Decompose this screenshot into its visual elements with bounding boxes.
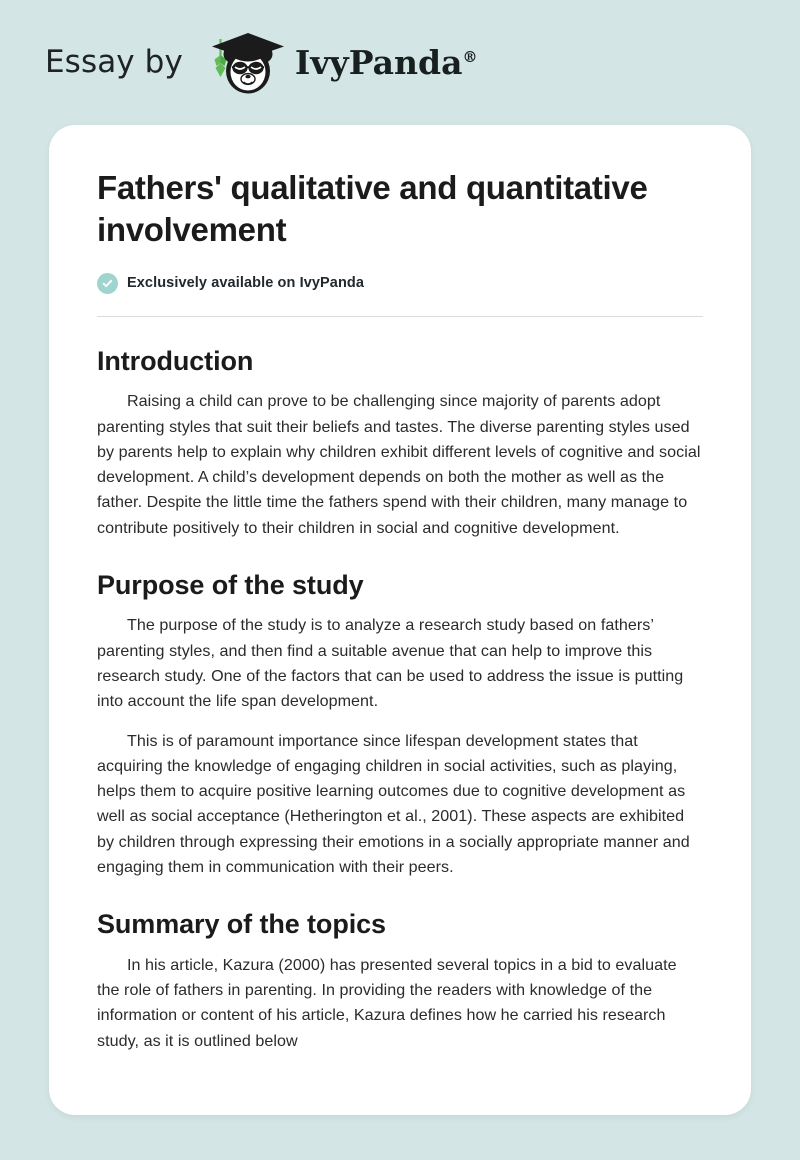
essay-document-card: Fathers' qualitative and quantitative in…	[49, 125, 751, 1115]
brand-wordmark: IvyPanda®	[295, 46, 478, 79]
section-paragraph: This is of paramount importance since li…	[97, 729, 703, 881]
section-heading: Purpose of the study	[97, 569, 703, 601]
exclusive-availability-label: Exclusively available on IvyPanda	[127, 275, 364, 291]
page-title: Fathers' qualitative and quantitative in…	[97, 167, 697, 251]
section-paragraph: The purpose of the study is to analyze a…	[97, 613, 703, 714]
section-paragraph: Raising a child can prove to be challeng…	[97, 389, 703, 541]
section-introduction: Introduction Raising a child can prove t…	[97, 345, 703, 541]
header-divider	[97, 316, 703, 317]
ivypanda-panda-graduate-logo-icon	[199, 27, 297, 99]
section-heading: Summary of the topics	[97, 908, 703, 940]
registered-trademark-symbol: ®	[462, 48, 477, 66]
exclusive-availability-badge: Exclusively available on IvyPanda	[97, 273, 703, 294]
section-summary-of-the-topics: Summary of the topics In his article, Ka…	[97, 908, 703, 1054]
essay-by-label: Essay by	[45, 47, 183, 78]
section-paragraph: In his article, Kazura (2000) has presen…	[97, 953, 703, 1054]
brand-header: Essay by	[0, 0, 800, 125]
check-circle-icon	[97, 273, 118, 294]
section-heading: Introduction	[97, 345, 703, 377]
section-purpose-of-the-study: Purpose of the study The purpose of the …	[97, 569, 703, 880]
ivypanda-logo[interactable]: IvyPanda®	[199, 27, 478, 99]
brand-name-text: IvyPanda	[295, 43, 463, 82]
